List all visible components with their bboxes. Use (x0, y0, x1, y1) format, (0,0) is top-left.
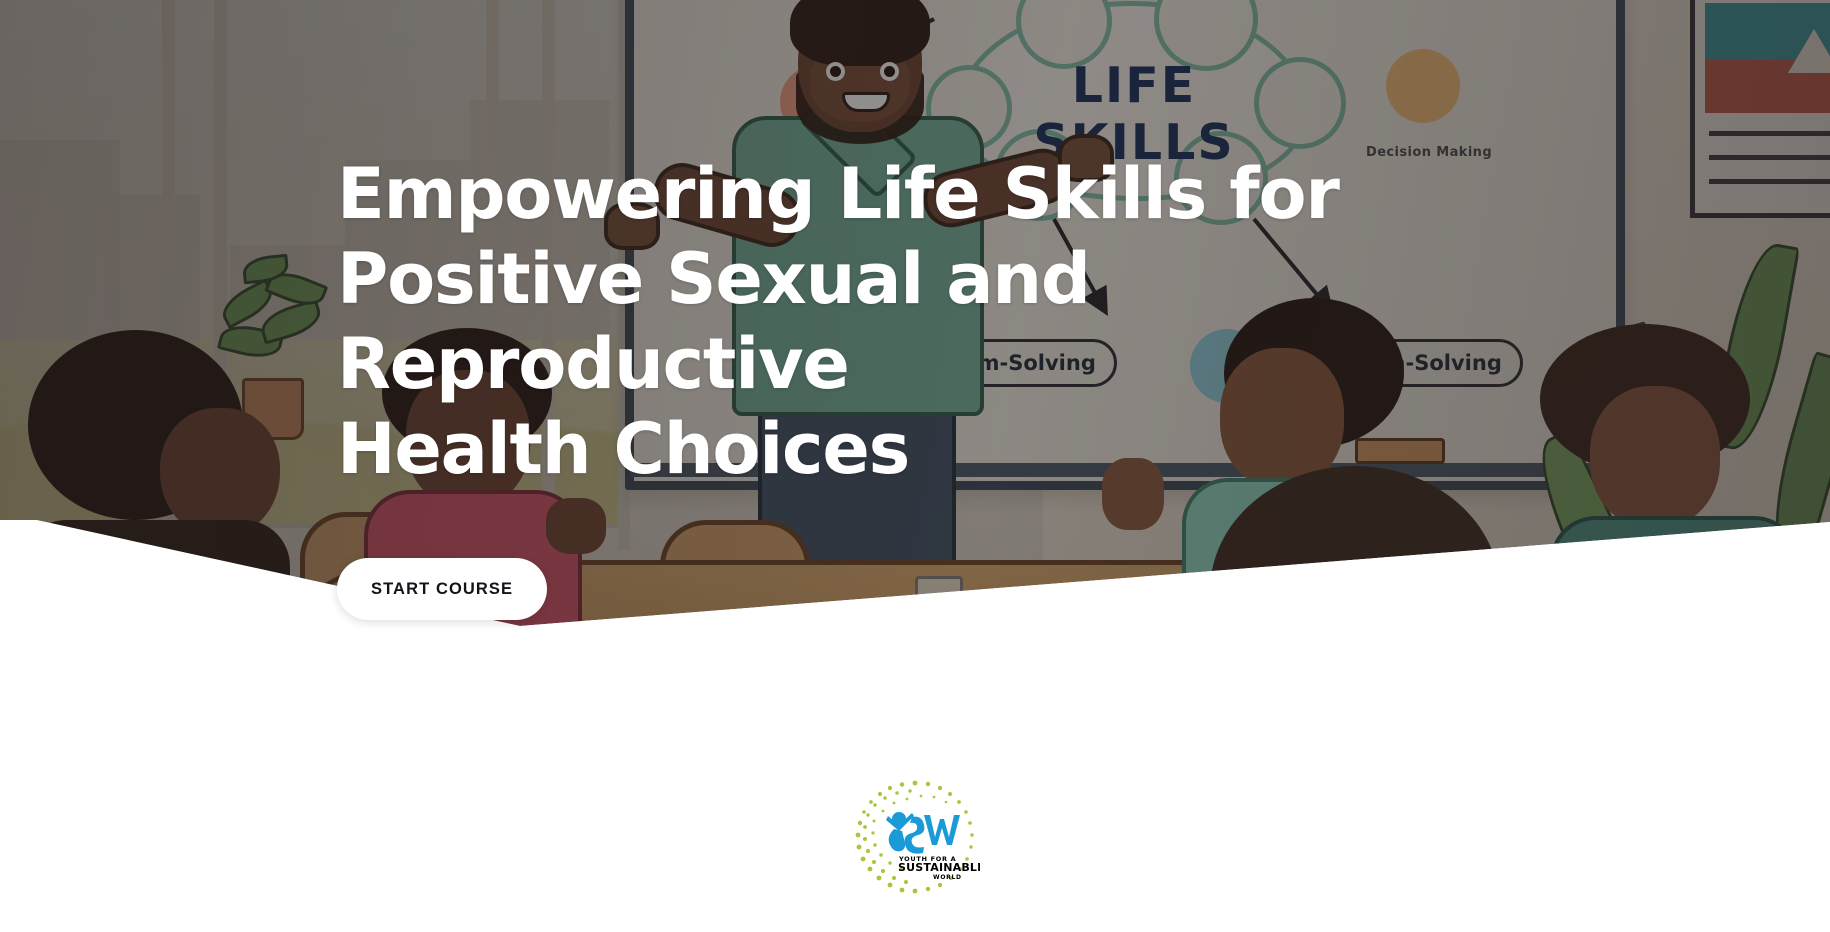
hero-section: LIFE SKILLS Decision Making Decision Mak (0, 0, 1830, 700)
title-line-1: Empowering Life Skills for (337, 153, 1339, 235)
hero-copy: Empowering Life Skills for Positive Sexu… (337, 152, 1517, 620)
page-root: LIFE SKILLS Decision Making Decision Mak (0, 0, 1830, 932)
start-course-button[interactable]: START COURSE (337, 558, 547, 620)
page-title: Empowering Life Skills for Positive Sexu… (337, 152, 1517, 492)
title-line-3: Health Choices (337, 408, 909, 490)
logo-figure-mark (886, 812, 960, 854)
ysw-logo-svg: YOUTH FOR A SUSTAINABLE WORLD (850, 775, 980, 905)
ysw-logo[interactable]: YOUTH FOR A SUSTAINABLE WORLD (850, 775, 980, 905)
footer-logo-area: YOUTH FOR A SUSTAINABLE WORLD (0, 775, 1830, 905)
logo-tagline-2: SUSTAINABLE (898, 861, 980, 874)
title-line-2: Positive Sexual and Reproductive (337, 238, 1090, 405)
logo-tagline-3: WORLD (933, 874, 962, 881)
